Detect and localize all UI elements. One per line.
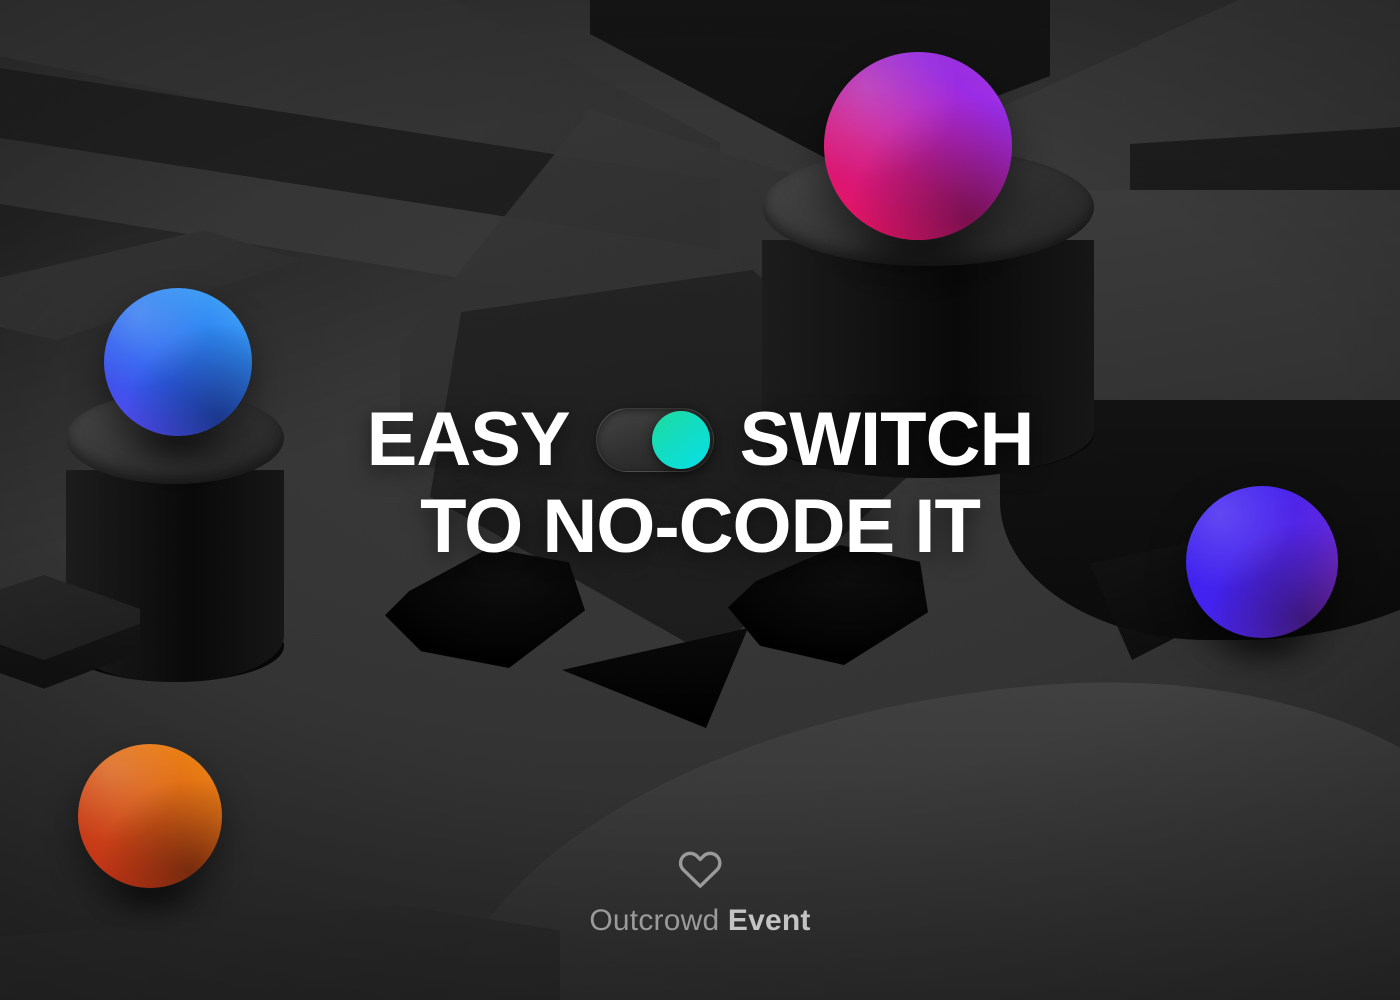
- headline-line-1: EASY SWITCH: [0, 404, 1400, 477]
- brand-lockup: Outcrowd Event: [0, 850, 1400, 938]
- headline-word-switch: SWITCH: [740, 404, 1034, 477]
- toggle-knob[interactable]: [652, 411, 710, 469]
- brand-name-light: Outcrowd: [589, 904, 719, 937]
- heart-check-icon: [677, 850, 723, 890]
- headline-word-easy: EASY: [367, 404, 570, 477]
- poster-canvas: EASY SWITCH TO NO-CODE IT Outcrowd Event: [0, 0, 1400, 1000]
- headline-line-2-text: TO NO-CODE IT: [420, 491, 980, 564]
- toggle-switch[interactable]: [596, 408, 714, 472]
- brand-name: Outcrowd Event: [589, 904, 810, 938]
- headline: EASY SWITCH TO NO-CODE IT: [0, 404, 1400, 564]
- headline-line-2: TO NO-CODE IT: [0, 491, 1400, 564]
- magenta-sphere: [824, 52, 1012, 240]
- brand-name-bold: Event: [728, 904, 811, 937]
- magenta-sphere-shading: [824, 52, 1012, 240]
